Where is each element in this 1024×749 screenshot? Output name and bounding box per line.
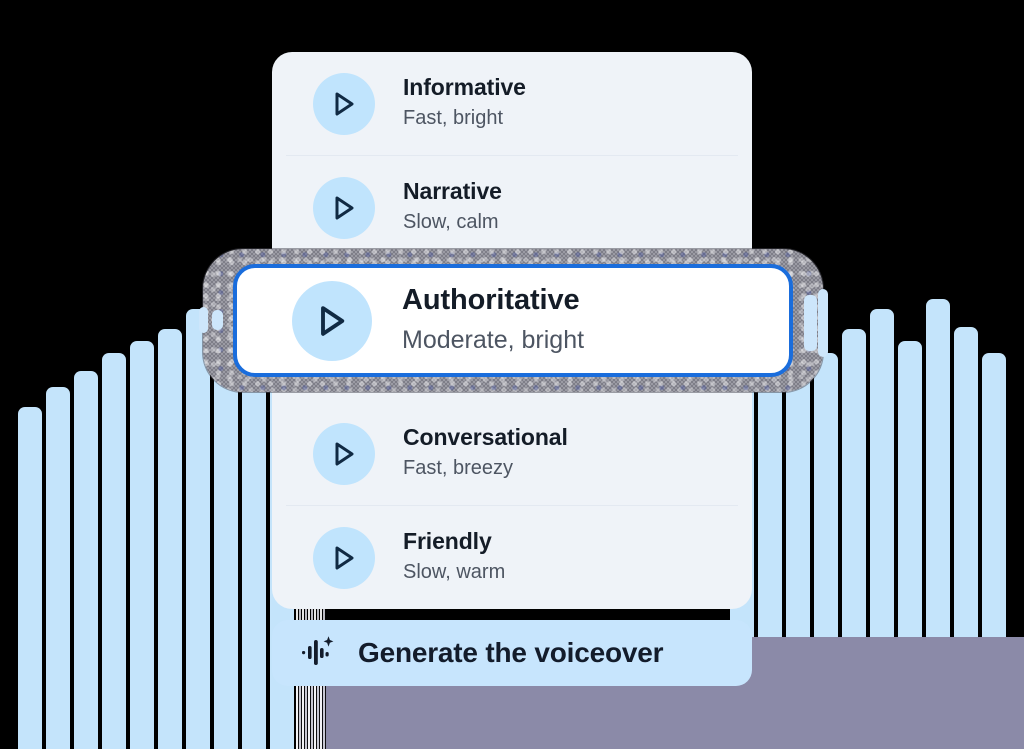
- frame-side-button-right-2[interactable]: [818, 289, 828, 357]
- list-item-subtitle: Moderate, bright: [402, 322, 584, 358]
- list-item-title: Authoritative: [402, 283, 584, 318]
- list-item-subtitle: Slow, warm: [403, 558, 505, 587]
- list-item-title: Friendly: [403, 528, 505, 556]
- frame-side-button-left-2[interactable]: [212, 310, 223, 330]
- list-item-text: Conversational Fast, breezy: [403, 424, 568, 483]
- generate-voiceover-button[interactable]: Generate the voiceover: [272, 620, 752, 686]
- play-icon[interactable]: [313, 177, 375, 239]
- list-item-title: Conversational: [403, 424, 568, 452]
- list-item-text: Authoritative Moderate, bright: [402, 283, 584, 358]
- list-item-text: Narrative Slow, calm: [403, 178, 502, 237]
- list-item-title: Narrative: [403, 178, 502, 206]
- list-item-authoritative-selected[interactable]: Authoritative Moderate, bright: [233, 264, 793, 377]
- list-item-subtitle: Fast, breezy: [403, 454, 568, 483]
- generate-voiceover-label: Generate the voiceover: [358, 637, 663, 669]
- list-item-subtitle: Fast, bright: [403, 104, 526, 133]
- list-item-text: Friendly Slow, warm: [403, 528, 505, 587]
- list-item-narrative[interactable]: Narrative Slow, calm: [272, 156, 752, 259]
- list-item-title: Informative: [403, 74, 526, 102]
- play-icon[interactable]: [313, 423, 375, 485]
- frame-side-button-left-1[interactable]: [199, 307, 208, 333]
- waveform-bar: [74, 371, 98, 749]
- selection-frame: Authoritative Moderate, bright: [203, 249, 823, 392]
- waveform-bar: [130, 341, 154, 749]
- list-item-conversational[interactable]: Conversational Fast, breezy: [272, 402, 752, 505]
- waveform-bar: [18, 407, 42, 749]
- waveform-bar: [46, 387, 70, 749]
- waveform-bar: [158, 329, 182, 749]
- frame-side-button-right-1[interactable]: [804, 295, 817, 351]
- list-item-subtitle: Slow, calm: [403, 208, 502, 237]
- play-icon[interactable]: [313, 73, 375, 135]
- canvas: Informative Fast, bright Narrative Slow,…: [0, 0, 1024, 749]
- waveform-bar: [102, 353, 126, 749]
- list-item-text: Informative Fast, bright: [403, 74, 526, 133]
- play-icon[interactable]: [313, 527, 375, 589]
- play-icon[interactable]: [292, 281, 372, 361]
- list-item-friendly[interactable]: Friendly Slow, warm: [272, 506, 752, 609]
- list-item-informative[interactable]: Informative Fast, bright: [272, 52, 752, 155]
- audio-waveform-sparkle-icon: [300, 634, 336, 673]
